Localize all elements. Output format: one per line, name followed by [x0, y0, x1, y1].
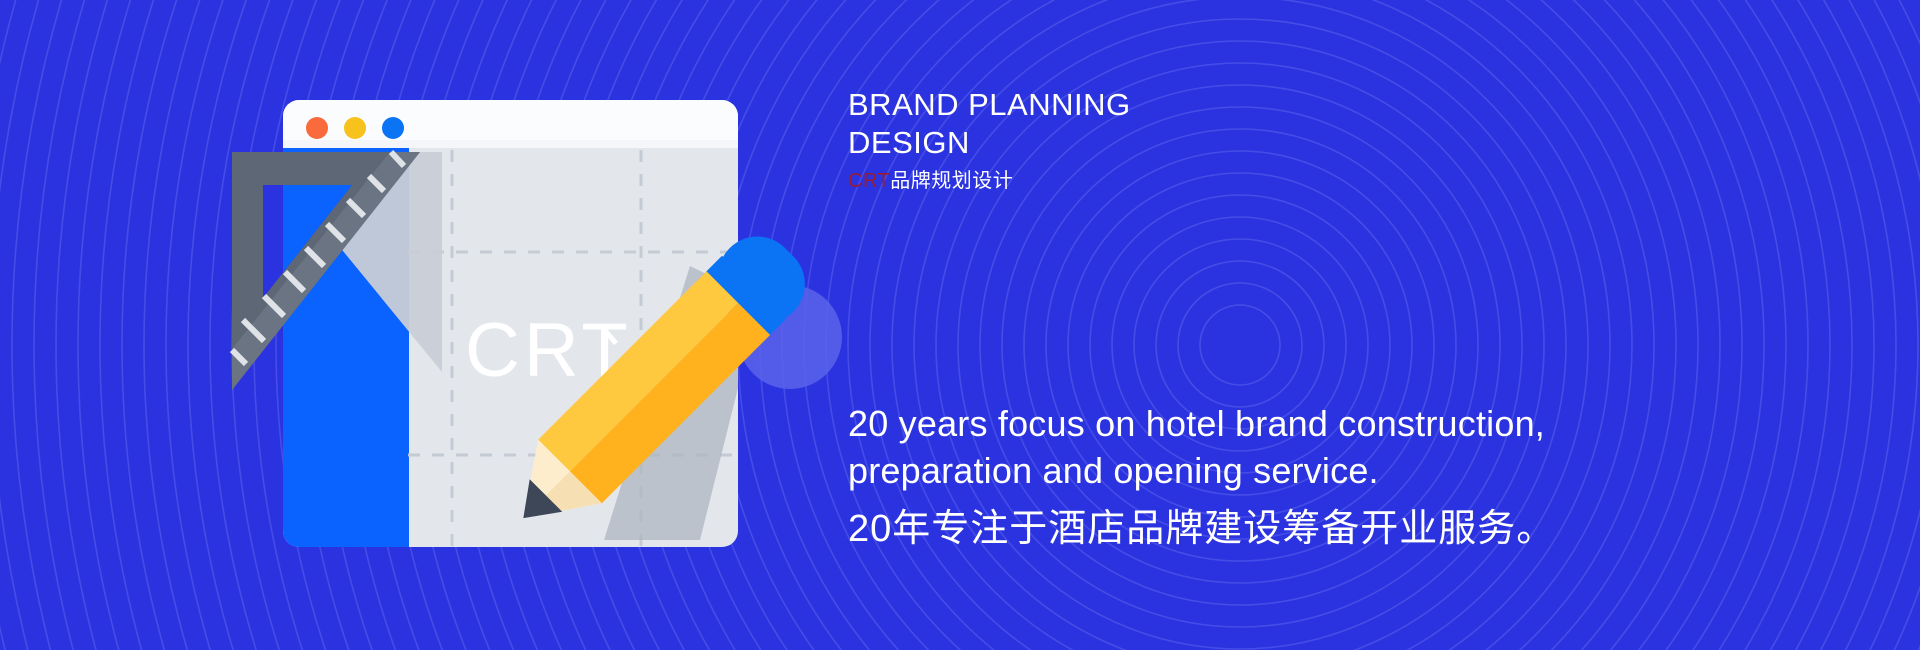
tagline-english: 20 years focus on hotel brand constructi… [848, 400, 1668, 494]
minimize-dot [344, 117, 366, 139]
brand-banner: CRT [0, 0, 1920, 650]
text-column: BRAND PLANNING DESIGN CRT品牌规划设计 20 years… [848, 0, 1908, 650]
hero-illustration: CRT [0, 0, 900, 650]
close-dot [306, 117, 328, 139]
tagline-chinese: 20年专注于酒店品牌建设筹备开业服务。 [848, 504, 1668, 554]
heading-chinese: CRT品牌规划设计 [848, 168, 1548, 194]
maximize-dot [382, 117, 404, 139]
heading-block: BRAND PLANNING DESIGN CRT品牌规划设计 [848, 86, 1548, 194]
heading-english: BRAND PLANNING DESIGN [848, 86, 1548, 162]
illustration-svg: CRT [0, 0, 900, 650]
heading-crt-mark: CRT [848, 170, 890, 192]
heading-chinese-rest: 品牌规划设计 [890, 170, 1013, 192]
tagline-block: 20 years focus on hotel brand constructi… [848, 400, 1668, 554]
